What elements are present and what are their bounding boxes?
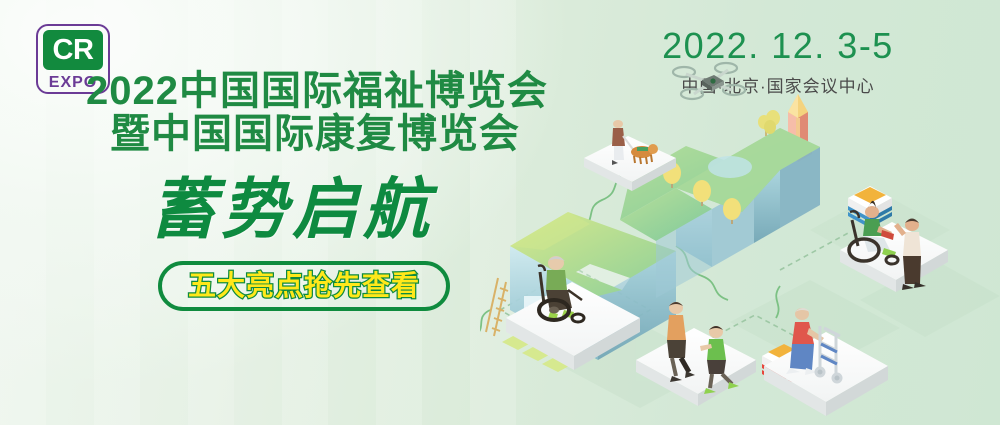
logo-green-square: CR [43, 30, 103, 70]
drone-icon [673, 63, 745, 99]
logo-mark-text: CR [43, 30, 103, 70]
cta-label: 五大亮点抢先查看 [188, 272, 420, 300]
slogan-text: 蓄势启航 [150, 176, 434, 242]
isometric-illustration [480, 60, 1000, 425]
ladder [486, 278, 508, 336]
cta-button[interactable]: 五大亮点抢先查看 [158, 261, 450, 311]
expo-banner: CR EXPO 2022中国国际福祉博览会 暨中国国际康复博览会 蓄势启航 五大… [0, 0, 1000, 425]
